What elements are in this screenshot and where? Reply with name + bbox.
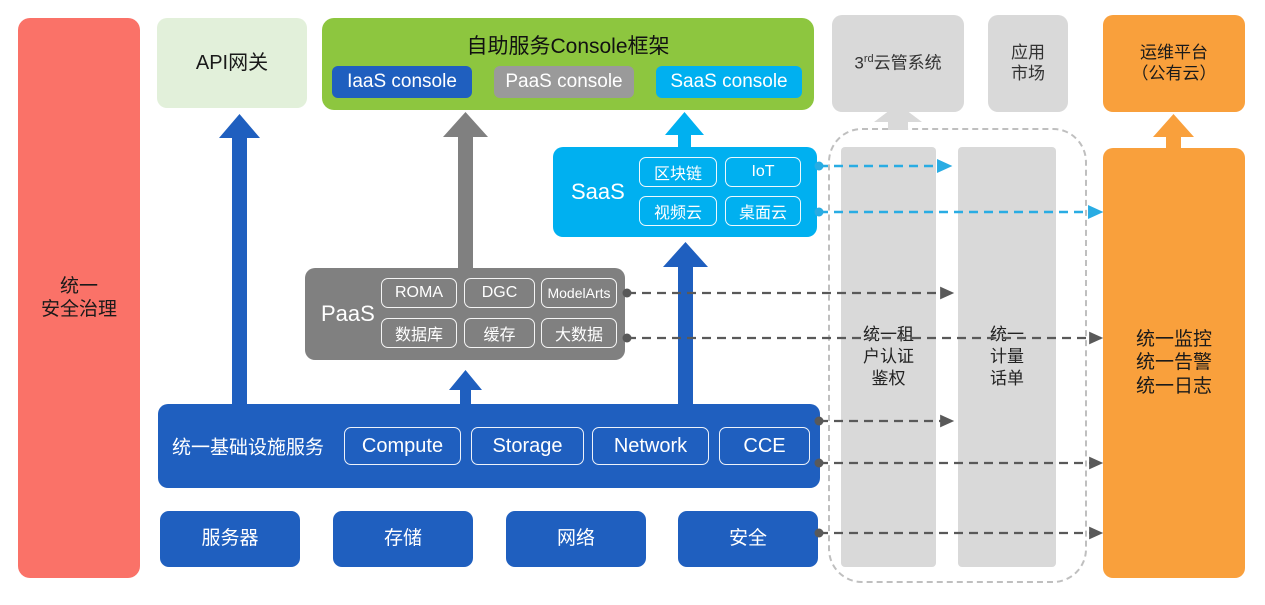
saas-layer-label: SaaS (571, 179, 625, 205)
arrow-saas-to-saas-console (665, 112, 704, 147)
console-framework-title: 自助服务Console框架 (322, 30, 814, 60)
app-market-box: 应用 市场 (988, 15, 1068, 112)
resource-box-security[interactable]: 安全 (678, 511, 818, 567)
metering-line3: 话单 (990, 369, 1024, 388)
arrow-infra-to-saas (663, 242, 708, 404)
infra-layer-label: 统一基础设施服务 (172, 433, 324, 460)
paas-tag-dgc[interactable]: DGC (464, 278, 535, 308)
paas-tag-roma[interactable]: ROMA (381, 278, 457, 308)
paas-layer-label: PaaS (321, 301, 375, 327)
infra-tag-network[interactable]: Network (592, 427, 709, 465)
arrow-ops-rail-to-ops-platform (1153, 114, 1194, 148)
arrow-infra-to-paas (449, 370, 482, 404)
shared-service-auth-column: 统一租 户认证 鉴权 (841, 147, 936, 567)
saas-tag-desktop-cloud[interactable]: 桌面云 (725, 196, 801, 226)
resource-box-server[interactable]: 服务器 (160, 511, 300, 567)
third-party-label-prefix: 3 (854, 53, 863, 72)
paas-tag-cache[interactable]: 缓存 (464, 318, 535, 348)
security-rail-line1: 统一 (60, 276, 98, 297)
paas-tag-bigdata[interactable]: 大数据 (541, 318, 617, 348)
chip-iaas-console[interactable]: IaaS console (332, 66, 472, 98)
ops-platform-line1: 运维平台 (1140, 43, 1208, 62)
infra-tag-cce[interactable]: CCE (719, 427, 810, 465)
metering-line2: 计量 (990, 347, 1024, 366)
chip-paas-console[interactable]: PaaS console (494, 66, 634, 98)
resource-box-network[interactable]: 网络 (506, 511, 646, 567)
security-governance-rail: 统一 安全治理 (18, 18, 140, 578)
unified-infrastructure-layer: 统一基础设施服务 Compute Storage Network CCE (158, 404, 820, 488)
saas-tag-iot[interactable]: IoT (725, 157, 801, 187)
metering-line1: 统一 (990, 325, 1024, 344)
arrow-paas-to-console (443, 112, 488, 268)
api-gateway-box: API网关 (157, 18, 307, 108)
third-party-label-sup: rd (864, 53, 874, 65)
auth-line1: 统一租 (863, 325, 914, 344)
paas-layer: PaaS ROMA DGC ModelArts 数据库 缓存 大数据 (305, 268, 625, 360)
saas-tag-blockchain[interactable]: 区块链 (639, 157, 717, 187)
auth-line2: 户认证 (863, 347, 914, 366)
ops-rail-line1: 统一监控 (1136, 329, 1212, 350)
security-rail-line2: 安全治理 (41, 299, 117, 320)
saas-tag-video-cloud[interactable]: 视频云 (639, 196, 717, 226)
saas-layer: SaaS 区块链 IoT 视频云 桌面云 (553, 147, 817, 237)
chip-saas-console[interactable]: SaaS console (656, 66, 802, 98)
api-gateway-label: API网关 (196, 51, 268, 75)
architecture-diagram: 统一 安全治理 API网关 自助服务Console框架 IaaS console… (0, 0, 1265, 605)
app-market-line2: 市场 (1011, 64, 1045, 83)
resource-box-storage[interactable]: 存储 (333, 511, 473, 567)
paas-tag-database[interactable]: 数据库 (381, 318, 457, 348)
third-party-cloud-mgmt-box: 3rd云管系统 (832, 15, 964, 112)
app-market-line1: 应用 (1011, 43, 1045, 62)
third-party-label-rest: 云管系统 (874, 53, 942, 72)
auth-line3: 鉴权 (872, 369, 906, 388)
infra-tag-storage[interactable]: Storage (471, 427, 584, 465)
arrow-infra-to-api-gateway (219, 114, 260, 404)
unified-ops-rail: 统一监控 统一告警 统一日志 (1103, 148, 1245, 578)
ops-rail-line2: 统一告警 (1136, 352, 1212, 373)
ops-platform-line2: （公有云） (1132, 64, 1217, 83)
paas-tag-modelarts[interactable]: ModelArts (541, 278, 617, 308)
shared-service-metering-column: 统一 计量 话单 (958, 147, 1056, 567)
console-framework: 自助服务Console框架 IaaS console PaaS console … (322, 18, 814, 110)
infra-tag-compute[interactable]: Compute (344, 427, 461, 465)
ops-rail-line3: 统一日志 (1136, 376, 1212, 397)
ops-platform-public-cloud-box: 运维平台 （公有云） (1103, 15, 1245, 112)
